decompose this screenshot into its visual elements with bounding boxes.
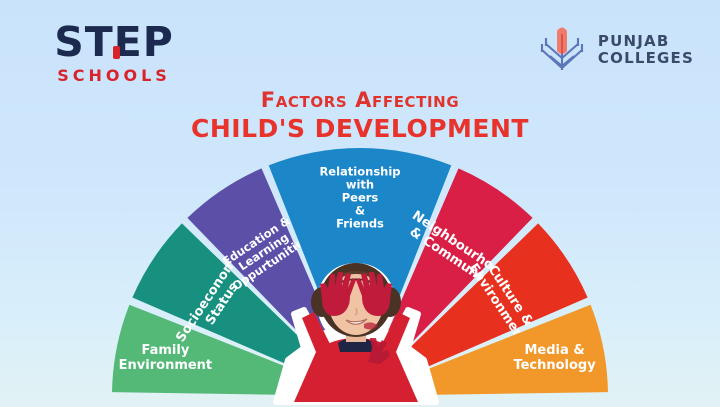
fan-segment-label-line: Technology bbox=[513, 357, 596, 372]
fan-segment-label-line: Media & bbox=[525, 342, 585, 357]
fan-segment-label-line: Environment bbox=[119, 357, 213, 372]
child-photo bbox=[268, 252, 444, 407]
fan-segment-label-line: Relationship bbox=[319, 164, 400, 178]
fan-segment-label-line: & bbox=[355, 203, 365, 217]
fan-segment-label-line: Family bbox=[141, 342, 189, 357]
fan-segment-label: Media &Technology bbox=[513, 342, 596, 372]
infographic-canvas: STEP SCHOOLS PUNJAB COLLEGES bbox=[0, 0, 720, 407]
fan-segment-label-line: Friends bbox=[336, 216, 384, 230]
fan-segment-label-line: Peers bbox=[342, 190, 379, 204]
fan-segment-label-line: with bbox=[346, 177, 374, 191]
